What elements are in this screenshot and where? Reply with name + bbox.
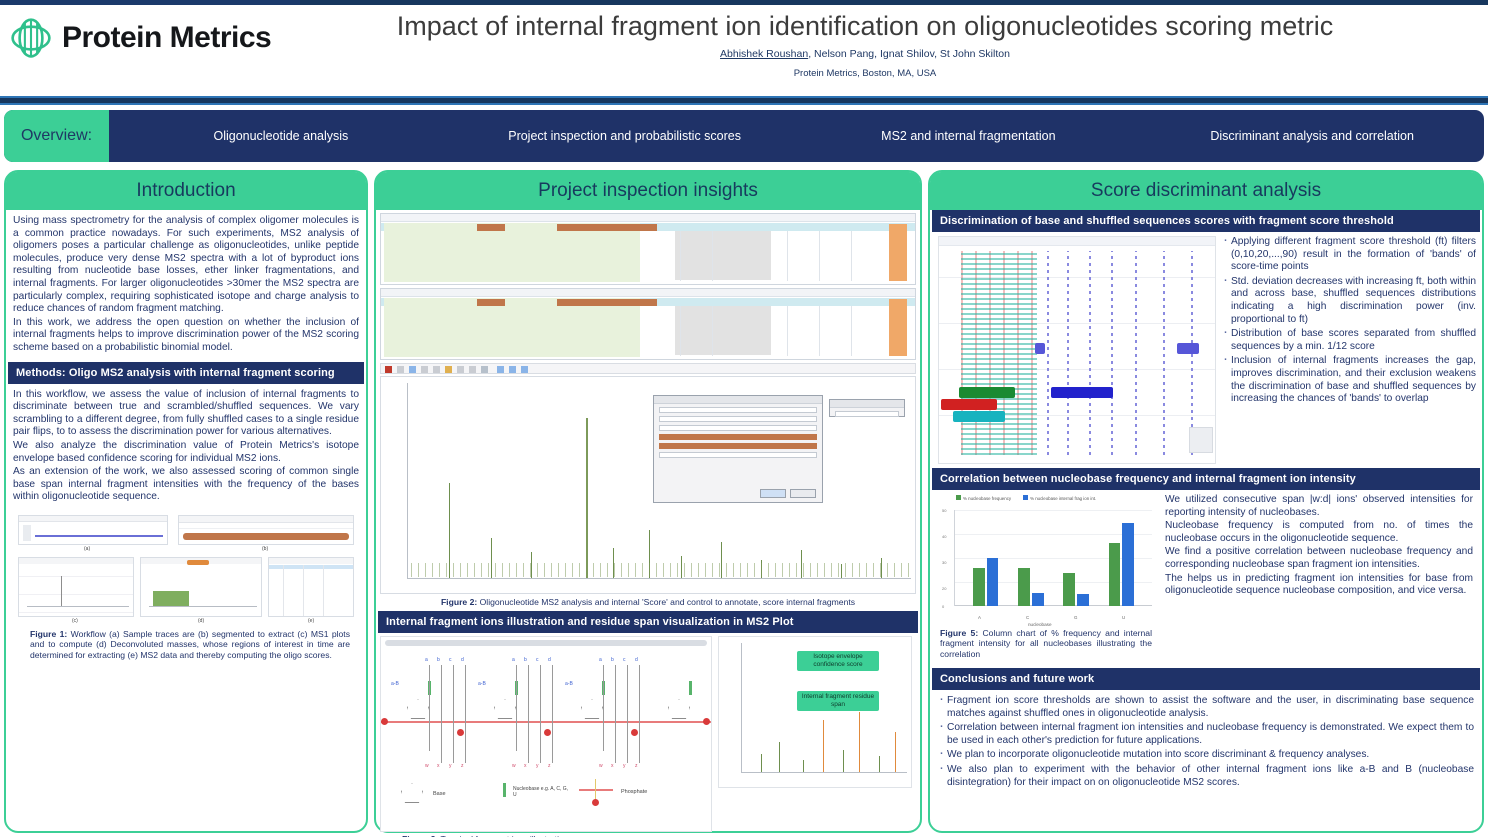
figure4-isotope-plot: Isotope envelope confidence score Intern… — [718, 636, 912, 788]
figure5-xlabel: nucleobase — [1028, 622, 1052, 627]
figure5-xtick-C: C — [1026, 615, 1029, 620]
nav-item-project-inspection[interactable]: Project inspection and probabilistic sco… — [453, 129, 797, 143]
figure2-options-dialog[interactable] — [653, 395, 823, 503]
figure5-bar-C-intensity — [1032, 593, 1044, 606]
methods-text: In this workflow, we assess the value of… — [6, 384, 366, 509]
score-tag-marker-2 — [1177, 343, 1199, 354]
discrimination-bullet-3: Distribution of base scores separated fr… — [1220, 328, 1476, 353]
column-score-discriminant: Score discriminant analysis Discriminati… — [928, 170, 1484, 833]
conclusion-bullet-1: Fragment ion score thresholds are shown … — [936, 695, 1474, 720]
discrimination-bullet-1: Applying different fragment score thresh… — [1220, 236, 1476, 274]
figure1-panel-a — [18, 515, 168, 545]
figure5-xtick-G: G — [1074, 615, 1077, 620]
figure5-ytick-2: 20 — [942, 586, 946, 591]
header-divider — [0, 96, 1488, 105]
discrimination-section-header: Discrimination of base and shuffled sequ… — [932, 210, 1480, 232]
figure3-legend-base: Base — [433, 791, 446, 797]
correlation-paragraph-3: We find a positive correlation between n… — [1165, 546, 1473, 571]
correlation-paragraph-1: We utilized consecutive span |w:d| ions'… — [1165, 494, 1473, 519]
score-plot-legend — [1189, 427, 1213, 453]
figure2-caption: Figure 2: Oligonucleotide MS2 analysis a… — [376, 594, 920, 611]
figure5-ytick-top: 50 — [942, 508, 946, 513]
discrimination-row: Applying different fragment score thresh… — [930, 232, 1482, 468]
figure1-caption: Figure 1: Workflow (a) Sample traces are… — [30, 629, 350, 660]
score-time-scatter-plot — [938, 236, 1216, 464]
score-tag-shuffled — [941, 399, 997, 410]
figure1-caption-label: Figure 1: — [30, 629, 67, 639]
figure5-legend-item-frequency: % nucleobase frequency — [956, 495, 1011, 501]
figure1-panel-e — [268, 557, 354, 617]
figure1-label-c: (c) — [72, 618, 78, 624]
conclusion-bullet-2: Correlation between internal fragment io… — [936, 722, 1474, 747]
correlation-section-header: Correlation between nucleobase frequency… — [932, 468, 1480, 490]
figure1-label-b: (b) — [262, 546, 268, 552]
figure5-bar-chart: % nucleobase frequency % nucleobase inte… — [938, 494, 1156, 622]
column-right-body: Discrimination of base and shuffled sequ… — [930, 210, 1482, 789]
methods-paragraph-3: As an extension of the work, we also ass… — [13, 466, 359, 504]
discrimination-bullet-4: Inclusion of internal fragments increase… — [1220, 355, 1476, 405]
figure3-legend-nucleobase: Nucleobase e.g. A, C, G, U — [513, 786, 573, 798]
figure2-caption-text: Oligonucleotide MS2 analysis and interna… — [477, 597, 855, 607]
methods-section-header: Methods: Oligo MS2 analysis with interna… — [8, 362, 364, 384]
column-mid-title: Project inspection insights — [376, 172, 920, 210]
score-tag-marker-1 — [1035, 343, 1045, 354]
correlation-paragraph-2: Nucleobase frequency is computed from no… — [1165, 520, 1473, 545]
discrimination-bullet-2: Std. deviation decreases with increasing… — [1220, 276, 1476, 326]
nav-item-discriminant-analysis[interactable]: Discriminant analysis and correlation — [1140, 129, 1484, 143]
author-list: Abhishek Roushan, Nelson Pang, Ignat Shi… — [330, 48, 1400, 60]
figure5-bar-G-intensity — [1077, 594, 1089, 606]
poster-header: Protein Metrics Impact of internal fragm… — [0, 5, 1488, 95]
figure2-ms2-spectrum — [380, 376, 916, 594]
figure-3-4-row: a b c d a b c d a b c d a-B a-B a-B w x — [380, 636, 916, 837]
figure5-legend: % nucleobase frequency % nucleobase inte… — [956, 495, 1096, 501]
figure5-xtick-A: A — [978, 615, 981, 620]
figure5-bar-C-frequency — [1018, 568, 1030, 606]
figure2-toolbar — [380, 363, 916, 374]
score-tag-base — [959, 387, 1015, 398]
nav-item-oligonucleotide-analysis[interactable]: Oligonucleotide analysis — [109, 129, 453, 143]
figure1-panel-d — [140, 557, 262, 617]
score-tag-ft-bands — [1051, 387, 1113, 398]
brand: Protein Metrics — [10, 17, 271, 59]
score-tag-flipped — [953, 411, 1005, 422]
figure5-bar-A-intensity — [987, 558, 999, 606]
nav-items: Oligonucleotide analysis Project inspect… — [109, 110, 1484, 162]
intro-paragraph-1: Using mass spectrometry for the analysis… — [13, 215, 359, 316]
figure5-xtick-U: U — [1122, 615, 1125, 620]
figure5-ytick-3: 30 — [942, 560, 946, 565]
figure2-table-top — [380, 213, 916, 285]
figure2-side-panel — [829, 399, 905, 417]
figure-1: (a) (b) (c) — [12, 513, 360, 663]
conclusion-bullet-3: We plan to incorporate oligonucleotide m… — [936, 749, 1474, 762]
methods-paragraph-1: In this workflow, we assess the value of… — [13, 389, 359, 439]
figure5-ytick-4: 40 — [942, 534, 946, 539]
poster-root: Protein Metrics Impact of internal fragm… — [0, 0, 1488, 837]
column-project-inspection: Project inspection insights — [374, 170, 922, 833]
figure5-bar-U-frequency — [1109, 543, 1121, 606]
author-rest: , Nelson Pang, Ignat Shilov, St John Ski… — [808, 48, 1010, 60]
nav-item-ms2-fragmentation[interactable]: MS2 and internal fragmentation — [797, 129, 1141, 143]
figure5-plot-area — [954, 510, 1152, 606]
column-introduction: Introduction Using mass spectrometry for… — [4, 170, 368, 833]
intro-paragraph-2: In this work, we address the open questi… — [13, 317, 359, 355]
figure5-bar-A-frequency — [973, 568, 985, 606]
figure3-legend-phosphate: Phosphate — [621, 789, 647, 795]
methods-paragraph-2: We also analyze the discrimination value… — [13, 440, 359, 465]
figure4-annotation-isotope: Isotope envelope confidence score — [797, 651, 879, 671]
figure1-label-e: (e) — [308, 618, 314, 624]
figure-2 — [376, 210, 920, 594]
figure5-legend-item-intensity: % nucleobase internal frag ion int. — [1023, 495, 1096, 501]
figure3-structure-diagram: a b c d a b c d a b c d a-B a-B a-B w x — [380, 636, 712, 832]
figure4-annotation-span: Internal fragment residue span — [797, 691, 879, 711]
figure5-bar-G-frequency — [1063, 573, 1075, 606]
discrimination-bullet-list: Applying different fragment score thresh… — [1220, 236, 1476, 408]
figure5-caption-label: Figure 5: — [940, 628, 978, 638]
protein-metrics-logo-icon — [10, 17, 52, 59]
figure2-table-bottom — [380, 288, 916, 360]
figure1-panel-b — [178, 515, 354, 545]
ms2-plot-section-header: Internal fragment ions illustration and … — [378, 611, 918, 633]
figure1-panel-c — [18, 557, 134, 617]
column-left-title: Introduction — [6, 172, 366, 210]
introduction-text: Using mass spectrometry for the analysis… — [6, 210, 366, 360]
conclusions-section-header: Conclusions and future work — [932, 668, 1480, 690]
figure1-label-a: (a) — [84, 546, 90, 552]
author-lead: Abhishek Roushan — [720, 48, 808, 60]
page-title: Impact of internal fragment ion identifi… — [330, 11, 1400, 42]
correlation-text: We utilized consecutive span |w:d| ions'… — [1158, 492, 1480, 603]
correlation-row: % nucleobase frequency % nucleobase inte… — [930, 490, 1482, 668]
figure2-caption-label: Figure 2: — [441, 597, 477, 607]
figure5-bar-U-intensity — [1122, 523, 1134, 606]
affiliation: Protein Metrics, Boston, MA, USA — [330, 68, 1400, 79]
title-block: Impact of internal fragment ion identifi… — [330, 11, 1400, 79]
conclusions-bullet-list: Fragment ion score thresholds are shown … — [930, 690, 1482, 789]
nav-overview-label: Overview: — [4, 110, 109, 162]
conclusion-bullet-4: We also plan to experiment with the beha… — [936, 764, 1474, 789]
column-right-title: Score discriminant analysis — [930, 172, 1482, 210]
column-mid-body: Figure 2: Oligonucleotide MS2 analysis a… — [376, 210, 920, 837]
figure1-caption-text: Workflow (a) Sample traces are (b) segme… — [30, 629, 350, 660]
figure1-label-d: (d) — [198, 618, 204, 624]
figure5-caption: Figure 5: Column chart of % frequency an… — [940, 628, 1152, 659]
column-left-body: Using mass spectrometry for the analysis… — [6, 210, 366, 663]
brand-name: Protein Metrics — [62, 21, 271, 55]
correlation-paragraph-4: The helps us in predicting fragment ion … — [1165, 573, 1473, 598]
overview-navbar: Overview: Oligonucleotide analysis Proje… — [4, 110, 1484, 162]
figure5-ytick-1: 0 — [942, 604, 944, 609]
